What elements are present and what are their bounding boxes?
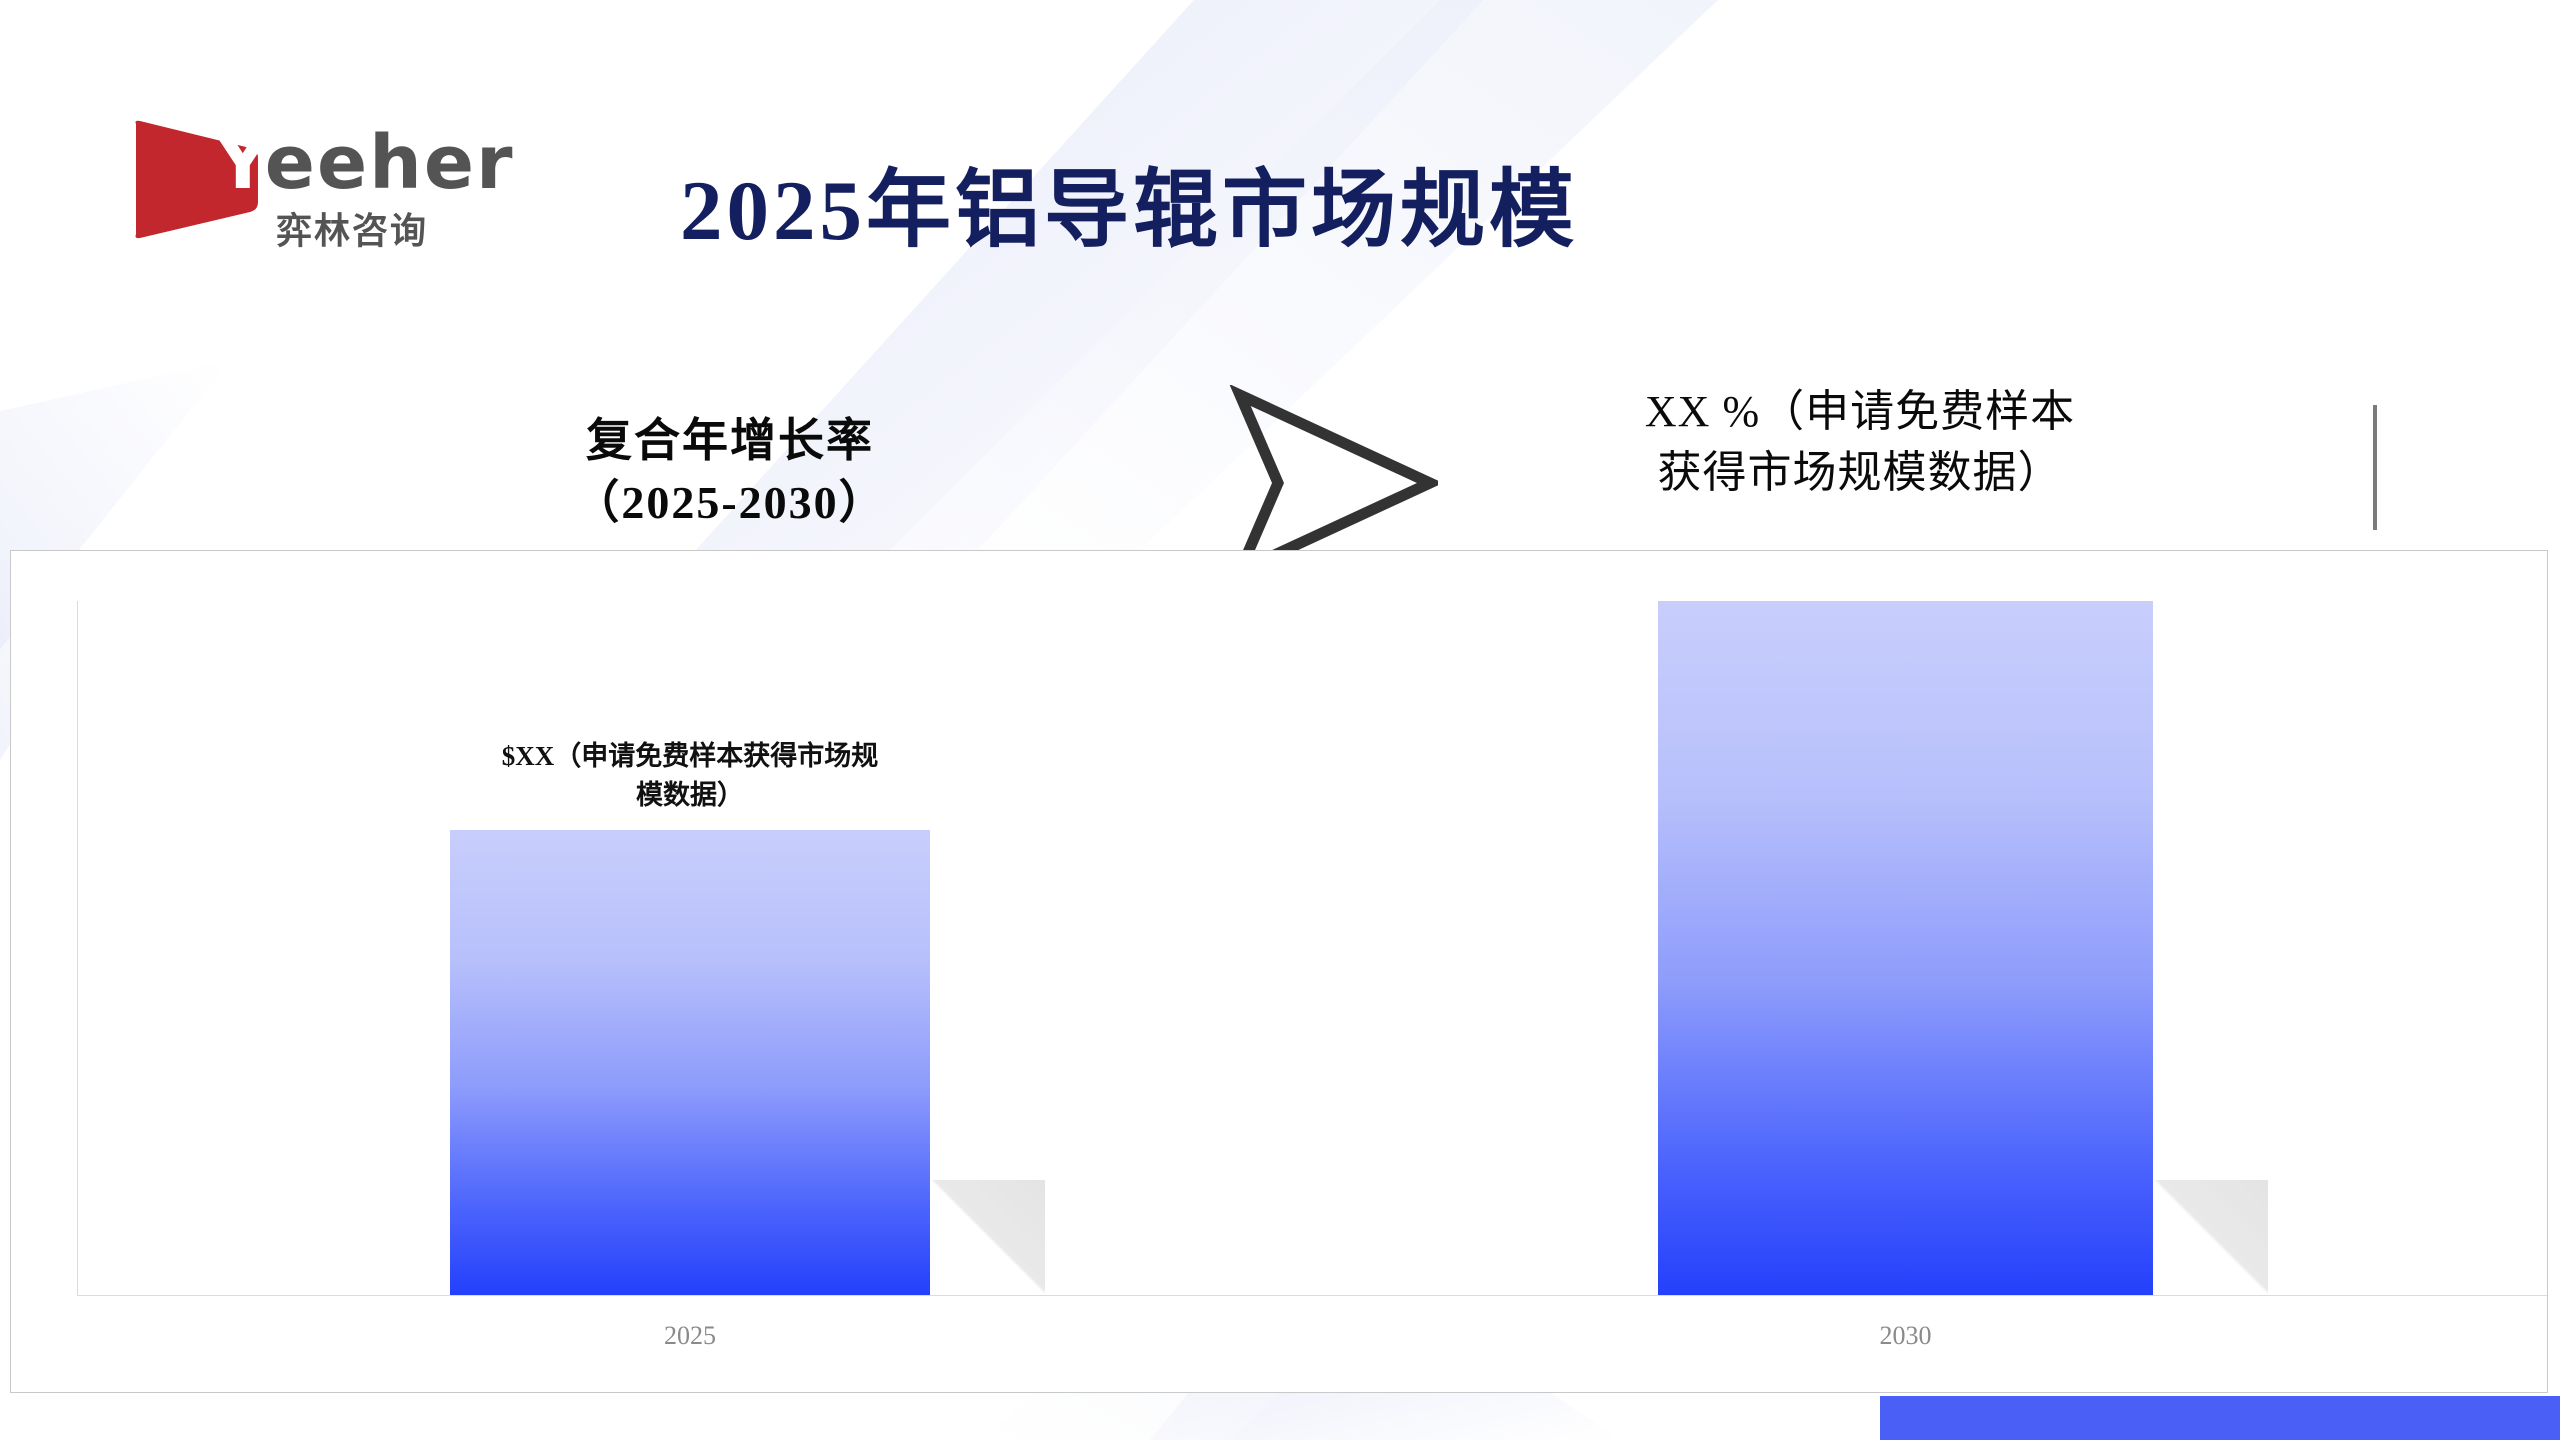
bar-shadow (930, 1180, 1045, 1295)
cagr-value-line1: XX %（申请免费样本 (1610, 382, 2110, 443)
bar-value-label-2025: $XX（申请免费样本获得市场规 模数据） (455, 737, 925, 814)
bar-group-2030[interactable]: 2030 (1658, 601, 2153, 1295)
cagr-label-line2: （2025-2030） (470, 472, 990, 534)
axis-tick-2030: 2030 (1880, 1321, 1932, 1351)
cagr-value-line2: 获得市场规模数据） (1610, 443, 2110, 504)
logo-letter-y: Y (216, 120, 265, 206)
logo-wordmark-rest: eeher (265, 120, 515, 206)
chart-panel: $XX（申请免费样本获得市场规 模数据） 2025 2030 (10, 550, 2548, 1393)
axis-tick-2025: 2025 (664, 1321, 716, 1351)
logo-wordmark: Yeeher (216, 126, 515, 200)
vertical-divider (2373, 405, 2377, 530)
logo-subwordmark: 弈林咨询 (276, 202, 428, 254)
bar-group-2025[interactable]: $XX（申请免费样本获得市场规 模数据） 2025 (450, 601, 930, 1295)
cagr-label: 复合年增长率 （2025-2030） (470, 410, 990, 533)
bar-2030[interactable] (1658, 601, 2153, 1295)
brand-logo: Yeeher 弈林咨询 (128, 118, 468, 238)
page-title: 2025年铝导辊市场规模 (680, 165, 1578, 259)
cagr-label-line1: 复合年增长率 (470, 410, 990, 472)
bar-2025[interactable]: $XX（申请免费样本获得市场规 模数据） (450, 830, 930, 1295)
chart-plot-area: $XX（申请免费样本获得市场规 模数据） 2025 2030 (77, 601, 2547, 1296)
cagr-value: XX %（申请免费样本 获得市场规模数据） (1610, 382, 2110, 503)
bottom-accent-bar (1880, 1396, 2560, 1440)
bar-shadow (2153, 1180, 2268, 1295)
slide-canvas: Yeeher 弈林咨询 2025年铝导辊市场规模 复合年增长率 （2025-20… (0, 0, 2560, 1440)
